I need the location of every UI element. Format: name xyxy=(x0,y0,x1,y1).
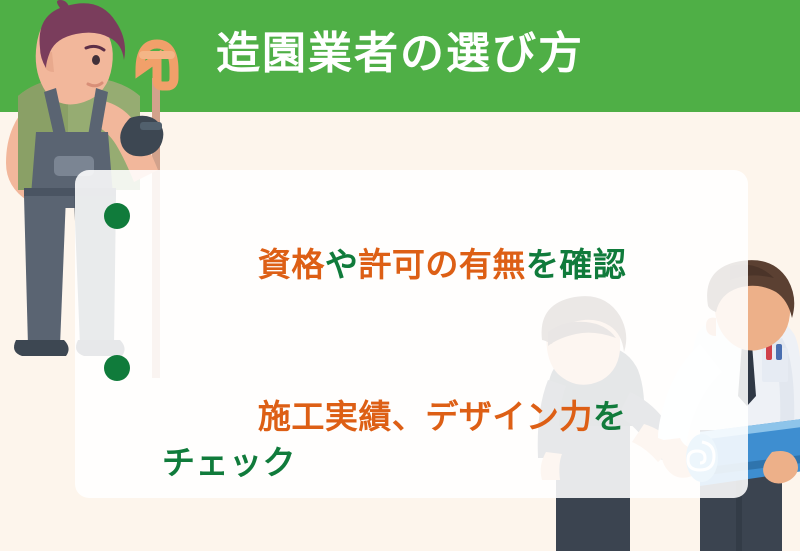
bullet-dot-icon xyxy=(104,355,130,381)
list-item: 資格や許可の有無を確認 xyxy=(104,196,664,334)
page-title: 造園業者の選び方 xyxy=(0,22,800,86)
text-segment-green: を確認 xyxy=(526,245,627,284)
list-item-text: 資格や許可の有無を確認 xyxy=(162,196,664,334)
bullet-dot-icon xyxy=(104,203,130,229)
list-item-text: 施工実績、デザイン力を チェック xyxy=(162,348,664,532)
text-segment-orange: 許可の有無 xyxy=(358,245,526,284)
list-item-text: 見積もり内容と費用の 内訳を確認 xyxy=(162,546,664,551)
list-item: 見積もり内容と費用の 内訳を確認 xyxy=(104,546,664,551)
list-item: 施工実績、デザイン力を チェック xyxy=(104,348,664,532)
text-segment-orange: 資格 xyxy=(258,245,325,284)
checklist: 資格や許可の有無を確認 施工実績、デザイン力を チェック 見積もり内容と費用の … xyxy=(104,196,664,551)
text-segment-green: や xyxy=(325,245,359,284)
infographic-canvas: 造園業者の選び方 資格や許可の有無を確認 施工実績、デザイン力を チェック 見積… xyxy=(0,0,800,551)
text-segment-orange: 施工実績、デザイン力 xyxy=(258,397,593,436)
